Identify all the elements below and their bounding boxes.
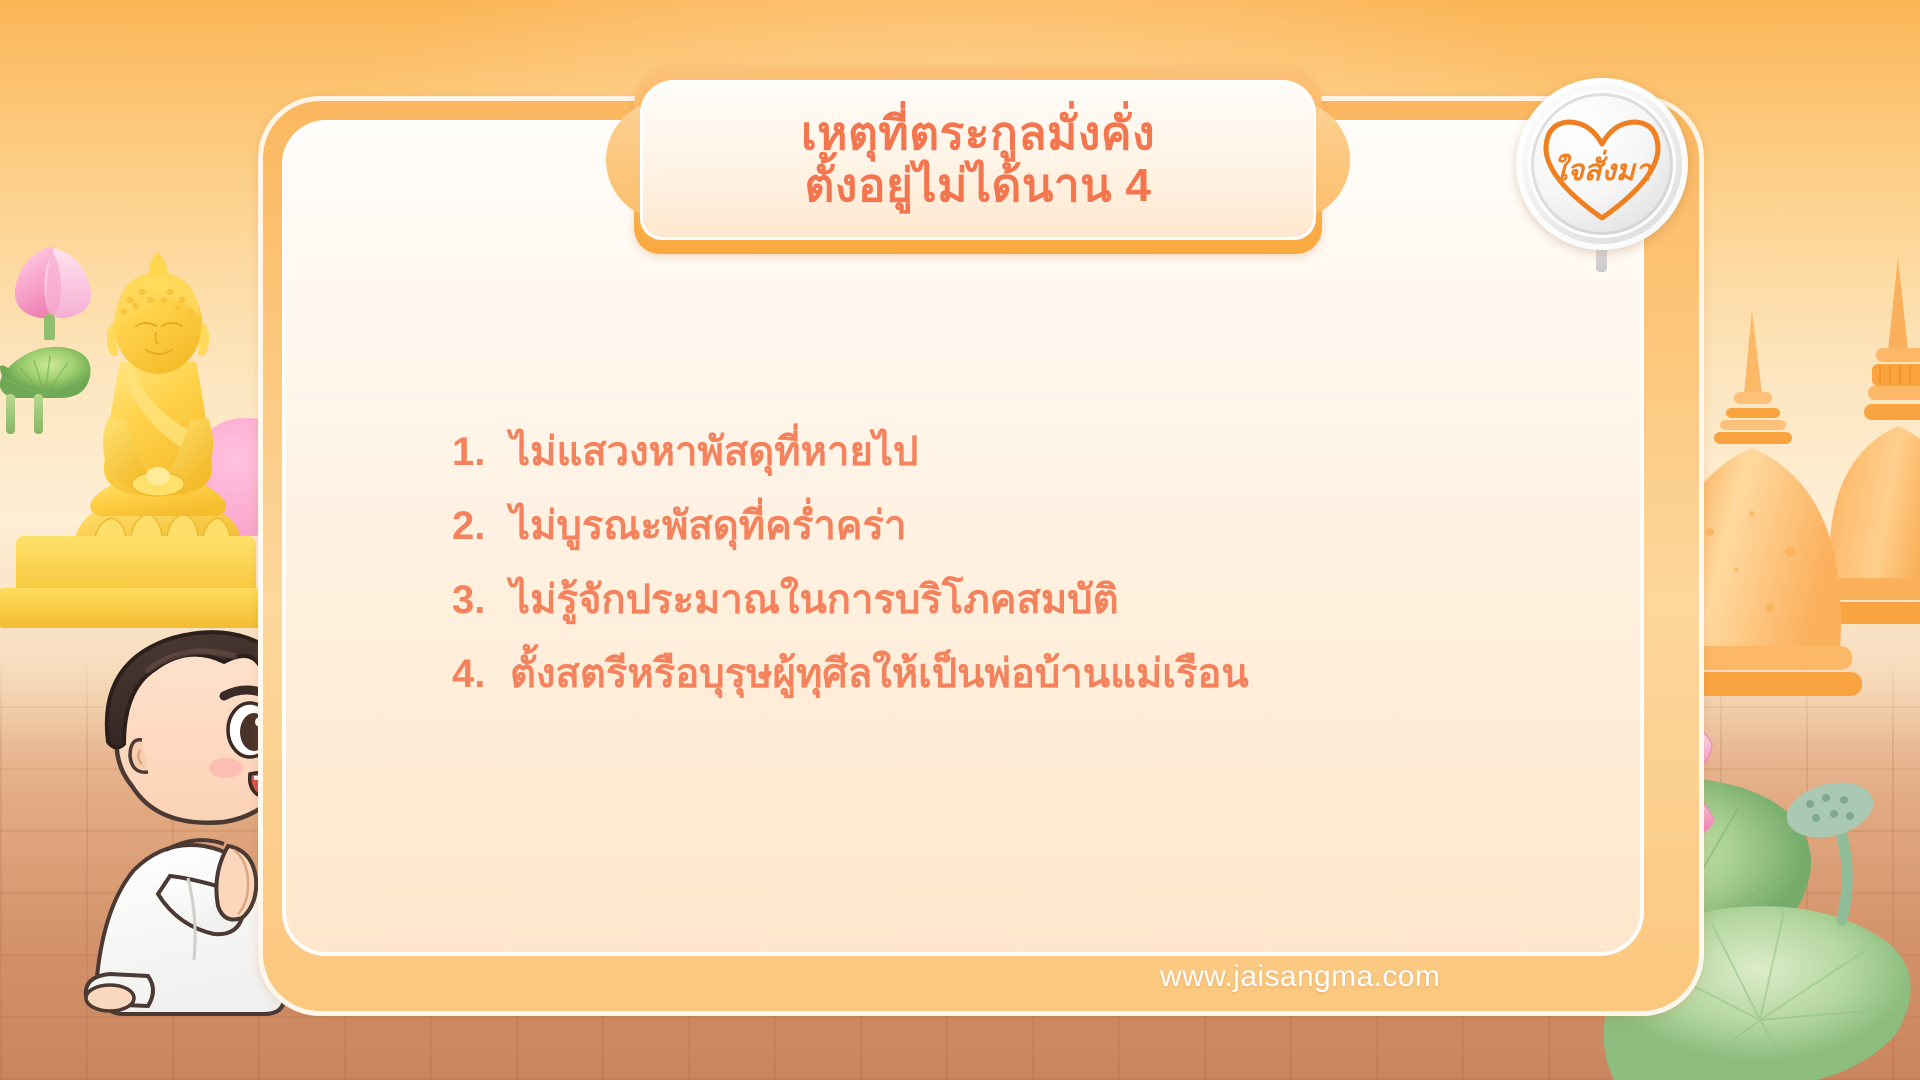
list-item-number: 2. [452, 506, 510, 546]
list-item-text: ไม่รู้จักประมาณในการบริโภคสมบัติ [510, 580, 1119, 620]
site-url[interactable]: www.jaisangma.com [1160, 960, 1440, 994]
list-item-number: 1. [452, 432, 510, 472]
gold-altar-base [0, 588, 266, 628]
pink-lotus-bud-icon [0, 240, 104, 340]
list-item: 4. ตั้งสตรีหรือบุรุษผู้ทุศีลให้เป็นพ่อบ้… [452, 654, 1512, 694]
buddha-statue-group [0, 236, 270, 596]
list-item: 3. ไม่รู้จักประมาณในการบริโภคสมบัติ [452, 580, 1512, 620]
list-item: 1. ไม่แสวงหาพัสดุที่หายไป [452, 432, 1512, 472]
list-item: 2. ไม่บูรณะพัสดุที่คร่ำคร่า [452, 506, 1512, 546]
green-lotus-leaf-icon [0, 314, 140, 434]
golden-buddha-icon [68, 250, 248, 580]
list-item-text: ตั้งสตรีหรือบุรุษผู้ทุศีลให้เป็นพ่อบ้านแ… [510, 654, 1249, 694]
page-title-line1: เหตุที่ตระกูลมั่งคั่ง [801, 108, 1155, 160]
list-item-number: 4. [452, 654, 510, 694]
logo-badge[interactable]: ใจสั่งมา [1516, 78, 1688, 250]
page-title-line2: ตั้งอยู่ไม่ได้นาน 4 [805, 160, 1152, 212]
list-item-text: ไม่แสวงหาพัสดุที่หายไป [510, 432, 918, 472]
slide-canvas: 1. ไม่แสวงหาพัสดุที่หายไป 2. ไม่บูรณะพัส… [0, 0, 1920, 1080]
logo-text: ใจสั่งมา [1516, 84, 1688, 256]
gold-altar-top [16, 536, 256, 592]
title-plate: เหตุที่ตระกูลมั่งคั่ง ตั้งอยู่ไม่ได้นาน … [640, 80, 1316, 240]
reasons-list: 1. ไม่แสวงหาพัสดุที่หายไป 2. ไม่บูรณะพัส… [452, 432, 1512, 728]
list-item-text: ไม่บูรณะพัสดุที่คร่ำคร่า [510, 506, 906, 546]
list-item-number: 3. [452, 580, 510, 620]
